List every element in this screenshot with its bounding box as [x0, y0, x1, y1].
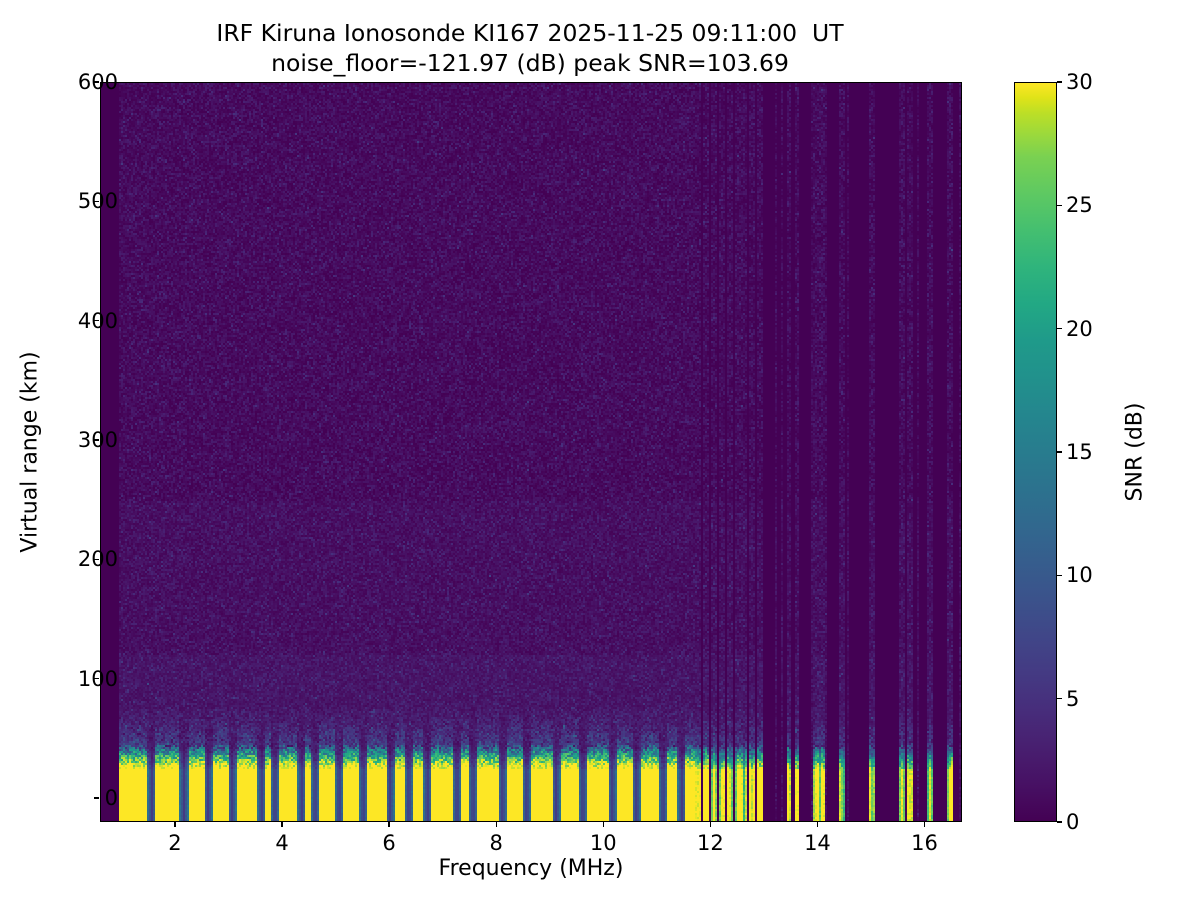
colorbar-tick-label: 0 [1066, 810, 1079, 834]
x-tick-label: 16 [911, 831, 938, 855]
y-tick-label: 600 [78, 70, 118, 94]
colorbar-tick-mark [1057, 451, 1062, 452]
x-tick-label: 6 [382, 831, 395, 855]
x-tick-mark [924, 822, 925, 827]
colorbar-tick-mark [1057, 575, 1062, 576]
ionogram-heatmap [101, 83, 962, 822]
x-tick-label: 4 [275, 831, 288, 855]
x-tick-label: 2 [168, 831, 181, 855]
colorbar-gradient [1015, 83, 1056, 821]
colorbar-tick-label: 15 [1066, 440, 1093, 464]
x-tick-label: 10 [590, 831, 617, 855]
colorbar-tick-mark [1057, 821, 1062, 822]
y-tick-mark [94, 797, 99, 798]
colorbar-label: SNR (dB) [1123, 403, 1148, 502]
x-tick-label: 12 [697, 831, 724, 855]
x-axis-label: Frequency (MHz) [100, 856, 962, 881]
colorbar-tick-label: 5 [1066, 687, 1079, 711]
colorbar-tick-label: 25 [1066, 193, 1093, 217]
y-tick-label: 200 [78, 547, 118, 571]
ionogram-plot-area[interactable] [100, 82, 962, 822]
y-tick-label: 500 [78, 189, 118, 213]
figure-title: IRF Kiruna Ionosonde KI167 2025-11-25 09… [0, 18, 1060, 78]
x-tick-mark [710, 822, 711, 827]
colorbar-tick-mark [1057, 328, 1062, 329]
title-line-2: noise_floor=-121.97 (dB) peak SNR=103.69 [0, 48, 1060, 78]
x-tick-label: 14 [804, 831, 831, 855]
y-axis-label: Virtual range (km) [18, 351, 43, 552]
x-tick-mark [281, 822, 282, 827]
y-tick-label: 400 [78, 309, 118, 333]
y-tick-label: 300 [78, 428, 118, 452]
colorbar-tick-label: 20 [1066, 317, 1093, 341]
x-tick-mark [496, 822, 497, 827]
x-tick-mark [174, 822, 175, 827]
x-tick-mark [388, 822, 389, 827]
colorbar[interactable] [1014, 82, 1057, 822]
colorbar-tick-mark [1057, 698, 1062, 699]
ionogram-figure: IRF Kiruna Ionosonde KI167 2025-11-25 09… [0, 0, 1200, 900]
y-tick-label: 0 [105, 786, 118, 810]
y-tick-label: 100 [78, 667, 118, 691]
colorbar-tick-mark [1057, 205, 1062, 206]
x-tick-mark [817, 822, 818, 827]
colorbar-tick-label: 10 [1066, 563, 1093, 587]
x-tick-label: 8 [490, 831, 503, 855]
colorbar-tick-label: 30 [1066, 70, 1093, 94]
colorbar-tick-mark [1057, 81, 1062, 82]
x-tick-mark [603, 822, 604, 827]
title-line-1: IRF Kiruna Ionosonde KI167 2025-11-25 09… [0, 18, 1060, 48]
